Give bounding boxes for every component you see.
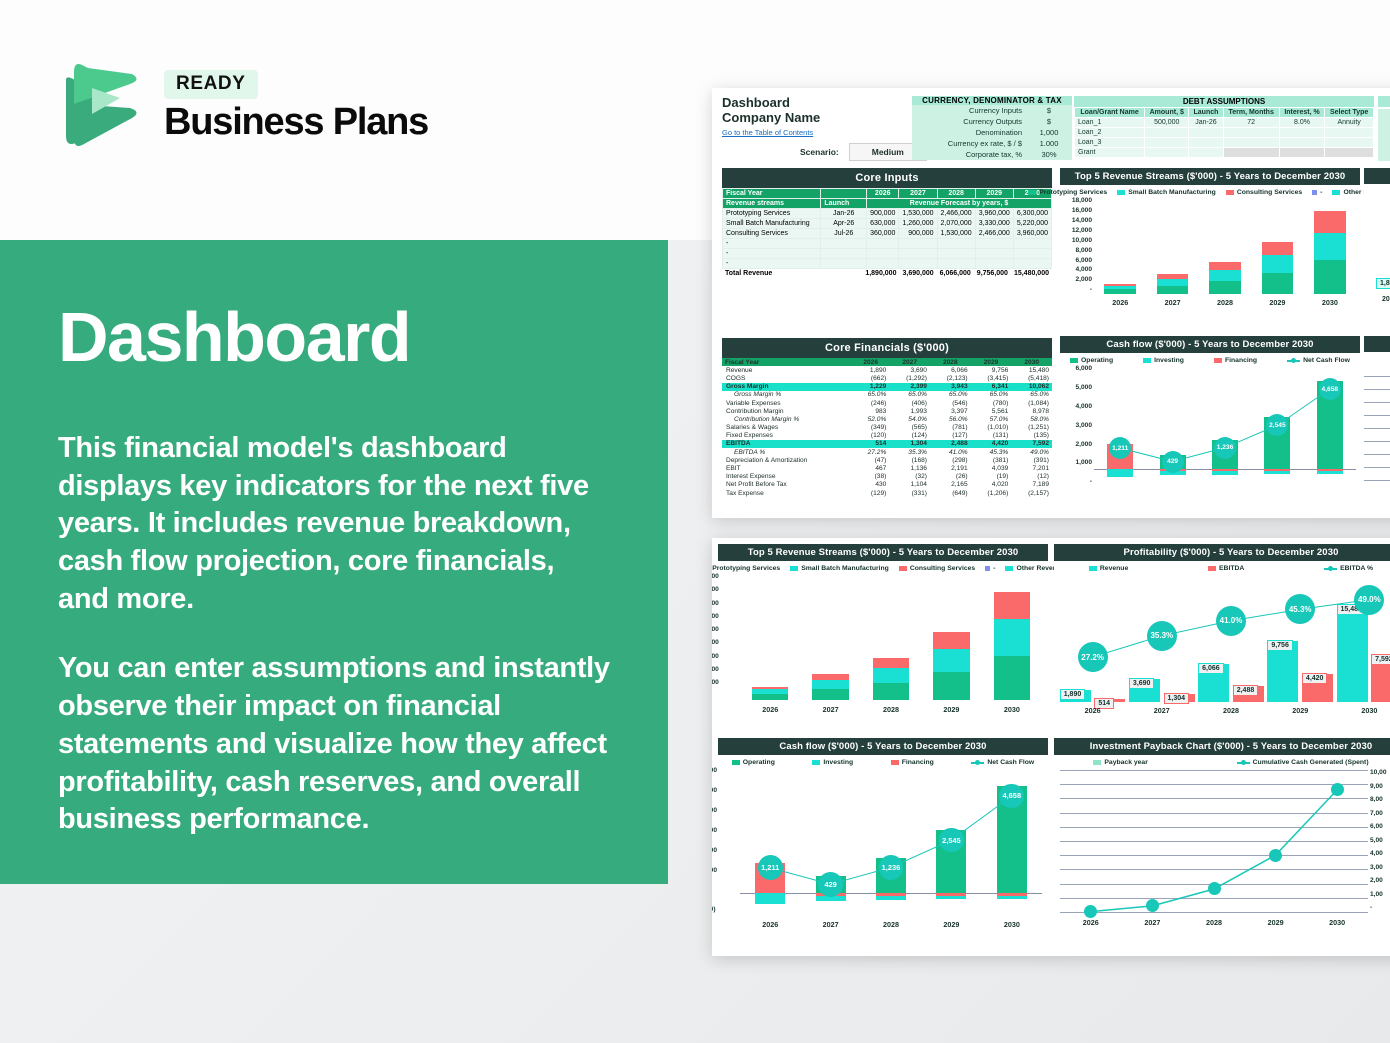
stream-value[interactable]: 900,000 xyxy=(867,209,899,219)
bar-segment xyxy=(1262,273,1293,294)
fiscal-year-label: Fiscal Year xyxy=(723,189,821,199)
cf-cell: 35.3% xyxy=(889,448,930,456)
cf-row-label: Contribution Margin xyxy=(722,407,852,415)
chart-title: Cash flow ($'000) - 5 Years to December … xyxy=(718,738,1048,755)
legend-swatch xyxy=(985,566,990,571)
total-revenue-row: Total Revenue1,890,0003,690,0006,066,000… xyxy=(722,269,1052,278)
y-tick: ,000 xyxy=(712,654,736,661)
x-axis-ticks: 20262027202820292030 xyxy=(1094,298,1356,307)
x-tick: 2027 xyxy=(1146,298,1198,307)
debt-row[interactable]: Loan_3 xyxy=(1075,138,1374,148)
legend-swatch xyxy=(1089,566,1097,571)
cf-row-label: Net Profit Before Tax xyxy=(722,481,852,489)
chart-cut-right-bottom[interactable]: Inve xyxy=(1364,336,1390,511)
legend-label: Small Batch Manufacturing xyxy=(801,565,889,572)
legend-swatch xyxy=(1332,190,1340,195)
y-tick: - xyxy=(712,693,736,700)
stream-value[interactable]: 900,000 xyxy=(899,229,937,239)
cf-cell: 49.0% xyxy=(1011,448,1052,456)
bar-group xyxy=(740,574,800,700)
cf-cell: 514 xyxy=(852,440,889,448)
debt-cell[interactable] xyxy=(1279,138,1325,148)
core-inputs-table[interactable]: Fiscal Year20262027202820292030Revenue s… xyxy=(722,188,1052,269)
bars: 1,2114291,2362,5454,658 xyxy=(1094,366,1356,486)
core-inputs-row[interactable]: Consulting ServicesJul-26360,000900,0001… xyxy=(723,229,1052,239)
cf-cell: 7,201 xyxy=(1011,464,1052,472)
total-revenue-value: 6,066,000 xyxy=(937,269,974,278)
currency-value[interactable]: $ xyxy=(1026,116,1072,127)
currency-row: Currency Outputs$ xyxy=(912,116,1072,127)
debt-cell[interactable]: Jan-26 xyxy=(1189,118,1223,128)
debt-cell[interactable]: Loan_2 xyxy=(1075,128,1145,138)
stream-value[interactable]: 2,466,000 xyxy=(975,229,1013,239)
legend-swatch xyxy=(1214,358,1222,363)
stream-launch[interactable] xyxy=(821,239,867,249)
cf-cell: (1,206) xyxy=(971,489,1012,497)
cf-row: Net Profit Before Tax4301,1042,1654,0207… xyxy=(722,481,1052,489)
brand-name: Business Plans xyxy=(164,103,428,143)
ready-badge: READY xyxy=(164,70,258,99)
stream-value[interactable]: 2,466,000 xyxy=(937,209,975,219)
cf-row-label: Salaries & Wages xyxy=(722,424,852,432)
cf-cell: 7,189 xyxy=(1011,481,1052,489)
x-tick: 2028 xyxy=(861,920,921,929)
bar-segment xyxy=(1104,289,1135,294)
dashboard-sheet-bottom[interactable]: Top 5 Revenue Streams ($'000) - 5 Years … xyxy=(712,538,1390,956)
ebitda-pct-bubble: 27.2% xyxy=(1078,642,1108,672)
legend-label: Net Cash Flow xyxy=(1303,357,1350,364)
chart-revenue-streams-bottom[interactable]: Top 5 Revenue Streams ($'000) - 5 Years … xyxy=(718,544,1048,734)
stream-value[interactable] xyxy=(867,259,899,269)
stacked-bar xyxy=(1157,274,1188,294)
bar-segment xyxy=(1314,260,1345,294)
debt-cell[interactable] xyxy=(1279,128,1325,138)
chart-title: Investment Payback Chart ($'000) - 5 Yea… xyxy=(1054,738,1390,755)
plot-area xyxy=(740,574,1042,700)
bars: 1,2114291,2362,5454,658 xyxy=(740,768,1042,914)
debt-cell[interactable]: Loan_1 xyxy=(1075,118,1145,128)
stream-value[interactable]: 3,960,000 xyxy=(975,209,1013,219)
debt-col-header: Term, Months xyxy=(1223,108,1279,118)
launch-label: Launch xyxy=(821,199,867,209)
debt-block: DEBT ASSUMPTIONS Loan/Grant NameAmount, … xyxy=(1074,96,1374,158)
cf-cell: 10,062 xyxy=(1011,383,1052,391)
chart-profitability[interactable]: Profitability ($'000) - 5 Years to Decem… xyxy=(1054,544,1390,734)
y-tick: - xyxy=(1060,287,1092,294)
stream-value[interactable] xyxy=(899,259,937,269)
stream-value[interactable] xyxy=(937,249,975,259)
y-axis-ticks: ,000,000,000,000,000,000,000,000,000- xyxy=(712,574,736,700)
y-tick: 5,00 xyxy=(1370,838,1390,845)
cf-row: Contribution Margin9831,9933,3975,5618,9… xyxy=(722,407,1052,415)
stream-value[interactable] xyxy=(937,259,975,269)
debt-cell[interactable] xyxy=(1145,148,1189,158)
legend-label: Consulting Services xyxy=(910,565,975,572)
legend-swatch xyxy=(1028,190,1036,195)
debt-cell[interactable]: Grant xyxy=(1075,148,1145,158)
sheet-title-line1: Dashboard xyxy=(722,95,790,110)
cf-year-row: Fiscal Year20262027202820292030 xyxy=(722,358,1052,366)
page-title: Dashboard xyxy=(58,302,610,372)
x-tick: 2028 xyxy=(1199,298,1251,307)
bar-group xyxy=(1146,198,1198,294)
cf-row: Gross Margin1,2292,3993,9436,34110,062 xyxy=(722,383,1052,391)
stream-value[interactable]: 3,330,000 xyxy=(975,219,1013,229)
legend-swatch xyxy=(891,760,899,765)
cf-row-label: COGS xyxy=(722,374,852,382)
stacked-bar xyxy=(812,674,848,700)
cf-row-label: Variable Expenses xyxy=(722,399,852,407)
hero-panel: Dashboard This financial model's dashboa… xyxy=(0,240,668,884)
gridline xyxy=(1364,454,1390,455)
y-tick: - xyxy=(712,887,736,894)
cf-row: Tax Expense(129)(331)(649)(1,206)(2,157) xyxy=(722,489,1052,497)
cf-cell: (2,123) xyxy=(930,374,971,382)
debt-row[interactable]: Loan_1500,000Jan-26728.0%Annuity xyxy=(1075,118,1374,128)
stream-name[interactable]: Consulting Services xyxy=(723,229,821,239)
legend-swatch xyxy=(732,760,740,765)
cf-cell: 1,993 xyxy=(889,407,930,415)
x-tick: 2030 xyxy=(1335,706,1390,715)
x-tick: 2027 xyxy=(1122,918,1184,927)
cf-row-label: Revenue xyxy=(722,366,852,374)
stream-launch[interactable] xyxy=(821,249,867,259)
stacked-bar xyxy=(1314,211,1345,294)
debt-cell[interactable] xyxy=(1145,128,1189,138)
debt-row[interactable]: Loan_2 xyxy=(1075,128,1374,138)
y-tick: 8,000 xyxy=(1060,248,1092,255)
stacked-bar xyxy=(1209,262,1240,294)
stream-value[interactable] xyxy=(975,249,1013,259)
stream-value[interactable]: 1,260,000 xyxy=(899,219,937,229)
core-financials-table[interactable]: Fiscal Year20262027202820292030Revenue1,… xyxy=(722,358,1052,497)
x-tick: 2026 xyxy=(1094,298,1146,307)
legend-label: Revenue xyxy=(1100,565,1128,572)
cf-cell: 8,978 xyxy=(1011,407,1052,415)
legend-swatch xyxy=(1070,358,1078,363)
bar-segment xyxy=(1209,270,1240,281)
cf-cell: 54.0% xyxy=(889,415,930,423)
legend-label: Investing xyxy=(823,759,853,766)
y-tick: ,000 xyxy=(712,614,736,621)
stream-value[interactable]: 3,960,000 xyxy=(1013,229,1051,239)
cf-cell: (129) xyxy=(852,489,889,497)
core-inputs-row[interactable]: Prototyping ServicesJan-26900,0001,530,0… xyxy=(723,209,1052,219)
cf-cell: (349) xyxy=(852,424,889,432)
stream-launch[interactable] xyxy=(821,259,867,269)
legend-label: Prototyping Services xyxy=(712,565,780,572)
chart-cut-right-top[interactable]: 27.2% 1,890 2026 xyxy=(1364,168,1390,328)
cf-cell: 2,488 xyxy=(930,440,971,448)
debt-cell[interactable] xyxy=(1223,148,1279,158)
chart-title: Profitability ($'000) - 5 Years to Decem… xyxy=(1054,544,1390,561)
stream-name[interactable]: Prototyping Services xyxy=(723,209,821,219)
currency-label: Currency Inputs xyxy=(912,105,1026,116)
debt-cell[interactable]: 72 xyxy=(1223,118,1279,128)
bar-segment xyxy=(873,658,909,669)
cf-cell: 1,104 xyxy=(889,481,930,489)
stream-name[interactable]: - xyxy=(723,259,821,269)
x-tick: 2026 xyxy=(1382,296,1390,303)
debt-cell[interactable] xyxy=(1189,138,1223,148)
legend-label: Prototyping Services xyxy=(1039,189,1107,196)
gridline xyxy=(1364,389,1390,390)
core-inputs-row[interactable]: - xyxy=(723,259,1052,269)
y-tick: 8,00 xyxy=(1370,797,1390,804)
legend-item: Investing xyxy=(812,759,853,766)
debt-col-header: Loan/Grant Name xyxy=(1075,108,1145,118)
cf-row: Salaries & Wages(349)(565)(781)(1,010)(1… xyxy=(722,424,1052,432)
net-cash-flow-bubble: 1,236 xyxy=(1214,437,1236,459)
y-tick: - xyxy=(1060,479,1092,486)
stream-value[interactable] xyxy=(899,249,937,259)
stream-value[interactable] xyxy=(975,259,1013,269)
legend-label: - xyxy=(1320,189,1322,196)
stream-value[interactable]: 6,300,000 xyxy=(1013,209,1051,219)
stream-value[interactable] xyxy=(867,249,899,259)
x-tick: 2026 xyxy=(1060,918,1122,927)
debt-cell[interactable] xyxy=(1189,128,1223,138)
debt-row[interactable]: Grant xyxy=(1075,148,1374,158)
cf-cell: (19) xyxy=(971,473,1012,481)
y-tick: 2,000 xyxy=(1060,442,1092,449)
gridline xyxy=(1364,376,1390,377)
scenario-label: Scenario: xyxy=(800,147,839,157)
debt-cell[interactable] xyxy=(1325,148,1374,158)
stream-value[interactable]: 2,070,000 xyxy=(937,219,975,229)
cf-cell: (26) xyxy=(930,473,971,481)
currency-value[interactable]: 1,000 xyxy=(1026,127,1072,138)
y-tick: 6,00 xyxy=(1370,824,1390,831)
currency-value[interactable]: $ xyxy=(1026,105,1072,116)
y-tick: 7,00 xyxy=(1370,811,1390,818)
cf-cell: 65.0% xyxy=(852,391,889,399)
currency-value[interactable]: 1.000 xyxy=(1026,138,1072,149)
bar-segment xyxy=(1262,242,1293,255)
chart-revenue-streams-top[interactable]: Top 5 Revenue Streams ($'000) - 5 Years … xyxy=(1060,168,1360,328)
legend-item: Consulting Services xyxy=(1226,189,1302,196)
cf-cell: 1,229 xyxy=(852,383,889,391)
cf-row: Fixed Expenses(120)(124)(127)(131)(135) xyxy=(722,432,1052,440)
debt-col-header: Launch xyxy=(1189,108,1223,118)
legend-item: Prototyping Services xyxy=(712,565,780,572)
currency-label: Currency ex rate, $ / $ xyxy=(912,138,1026,149)
cf-cell: 2,165 xyxy=(930,481,971,489)
net-cash-flow-bubble: 2,545 xyxy=(939,828,964,853)
cf-cell: (135) xyxy=(1011,432,1052,440)
stream-value[interactable]: 5,220,000 xyxy=(1013,219,1051,229)
y-tick: 000 xyxy=(712,828,736,835)
x-tick: 2029 xyxy=(1266,706,1335,715)
bar-segment xyxy=(752,694,788,700)
core-inputs-row[interactable]: - xyxy=(723,239,1052,249)
stream-name[interactable]: - xyxy=(723,239,821,249)
bar-group xyxy=(921,574,981,700)
stream-value[interactable]: 1,530,000 xyxy=(899,209,937,219)
y-axis-ticks: 6,0005,0004,0003,0002,0001,000- xyxy=(1060,366,1092,486)
core-inputs-row[interactable]: Small Batch ManufacturingApr-26630,0001,… xyxy=(723,219,1052,229)
bar-segment xyxy=(994,656,1030,700)
y-tick: 4,000 xyxy=(1060,267,1092,274)
cf-cell: (168) xyxy=(889,456,930,464)
stream-value[interactable]: 360,000 xyxy=(867,229,899,239)
stream-value[interactable] xyxy=(867,239,899,249)
cf-cell: 3,690 xyxy=(889,366,930,374)
legend-label: Small Batch Manufacturing xyxy=(1128,189,1216,196)
chart-title: Top 5 Revenue Streams ($'000) - 5 Years … xyxy=(718,544,1048,561)
debt-cell[interactable]: 8.0% xyxy=(1279,118,1325,128)
chart-cash-flow-top[interactable]: Cash flow ($'000) - 5 Years to December … xyxy=(1060,336,1360,511)
cf-cell: 1,136 xyxy=(889,464,930,472)
core-inputs-row[interactable]: - xyxy=(723,249,1052,259)
debt-cell[interactable] xyxy=(1325,128,1374,138)
legend-item: Financing xyxy=(891,759,934,766)
bar-segment xyxy=(933,632,969,649)
currency-block: CURRENCY, DENOMINATOR & TAX Currency Inp… xyxy=(912,96,1072,160)
debt-table[interactable]: Loan/Grant NameAmount, $LaunchTerm, Mont… xyxy=(1074,107,1374,158)
legend-swatch xyxy=(1117,190,1125,195)
sheet-title-line2: Company Name xyxy=(722,110,820,125)
chart-investment-payback[interactable]: Investment Payback Chart ($'000) - 5 Yea… xyxy=(1054,738,1390,950)
cf-cell: (1,084) xyxy=(1011,399,1052,407)
cf-cell: 65.0% xyxy=(971,391,1012,399)
legend-label: Operating xyxy=(743,759,775,766)
debt-cell[interactable]: Loan_3 xyxy=(1075,138,1145,148)
hero-paragraph-2: You can enter assumptions and instantly … xyxy=(58,650,610,838)
bar-segment xyxy=(1262,255,1293,273)
stream-value[interactable] xyxy=(1013,259,1051,269)
legend-item: Prototyping Services xyxy=(1028,189,1107,196)
y-tick: ,000 xyxy=(712,680,736,687)
legend-label: Payback year xyxy=(1104,759,1147,766)
cf-cell: (120) xyxy=(852,432,889,440)
y-tick: 1,00 xyxy=(1370,892,1390,899)
legend-item: - xyxy=(985,565,995,572)
chart-legend: OperatingInvestingFinancingNet Cash Flow xyxy=(1060,353,1360,366)
core-inputs-sub-header: Revenue streamsLaunchRevenue Forecast by… xyxy=(723,199,1052,209)
bar-segment xyxy=(873,668,909,682)
year-header: 2026 xyxy=(867,189,899,199)
cf-row-label: Gross Margin xyxy=(722,383,852,391)
cf-cell: (662) xyxy=(852,374,889,382)
total-revenue-value: 3,690,000 xyxy=(899,269,936,278)
cf-cell: 65.0% xyxy=(889,391,930,399)
legend-label: - xyxy=(993,565,995,572)
stream-name[interactable]: Small Batch Manufacturing xyxy=(723,219,821,229)
legend-swatch xyxy=(790,566,798,571)
stream-value[interactable] xyxy=(975,239,1013,249)
stream-value[interactable] xyxy=(899,239,937,249)
stacked-bar xyxy=(1262,242,1293,294)
legend-label: EBITDA xyxy=(1219,565,1244,572)
legend-swatch xyxy=(1312,190,1317,195)
cf-cell: (298) xyxy=(930,456,971,464)
y-tick: ,000 xyxy=(712,587,736,594)
bar-segment xyxy=(1157,279,1188,286)
stream-value[interactable] xyxy=(1013,249,1051,259)
cf-cell: 2,191 xyxy=(930,464,971,472)
stacked-bar xyxy=(994,592,1030,700)
debt-cell[interactable] xyxy=(1189,148,1223,158)
bar-segment xyxy=(933,672,969,700)
cf-cell: (331) xyxy=(889,489,930,497)
cf-row-label: Fixed Expenses xyxy=(722,432,852,440)
debt-cell[interactable]: 500,000 xyxy=(1145,118,1189,128)
stream-value[interactable]: 630,000 xyxy=(867,219,899,229)
chart-cash-flow-bottom[interactable]: Cash flow ($'000) - 5 Years to December … xyxy=(718,738,1048,950)
cf-cell: 1,890 xyxy=(852,366,889,374)
x-tick: 2030 xyxy=(982,705,1042,714)
y-tick: ,000 xyxy=(712,640,736,647)
hero-paragraph-1: This financial model's dashboard display… xyxy=(58,430,610,618)
y-tick: - xyxy=(1370,905,1390,912)
bar-segment xyxy=(1314,233,1345,261)
debt-cell[interactable] xyxy=(1325,138,1374,148)
cf-cell: (38) xyxy=(852,473,889,481)
stream-value[interactable] xyxy=(937,239,975,249)
debt-col-header: Amount, $ xyxy=(1145,108,1189,118)
x-tick: 2027 xyxy=(1127,706,1196,715)
legend-swatch xyxy=(1324,568,1337,570)
x-tick: 2028 xyxy=(1196,706,1265,715)
debt-cell[interactable] xyxy=(1223,138,1279,148)
legend-swatch xyxy=(1143,358,1151,363)
stream-launch[interactable]: Jan-26 xyxy=(821,209,867,219)
cf-cell: (2,157) xyxy=(1011,489,1052,497)
debt-cell[interactable] xyxy=(1279,148,1325,158)
legend-swatch xyxy=(899,566,907,571)
y-tick: 000 xyxy=(712,848,736,855)
year-header: 2029 xyxy=(975,189,1013,199)
currency-value[interactable]: 30% xyxy=(1026,149,1072,160)
ebitda-pct-bubble: 49.0% xyxy=(1354,585,1384,615)
legend-swatch xyxy=(1287,360,1300,362)
legend-item: Net Cash Flow xyxy=(1287,357,1350,364)
debt-cell[interactable] xyxy=(1145,138,1189,148)
ebitda-pct-bubble: 35.3% xyxy=(1147,621,1177,651)
currency-table: Currency Inputs$Currency Outputs$Denomin… xyxy=(912,105,1072,160)
stream-name[interactable]: - xyxy=(723,249,821,259)
cf-cell: 52.0% xyxy=(852,415,889,423)
x-tick: 2029 xyxy=(921,705,981,714)
core-inputs-total-row: Total Revenue1,890,0003,690,0006,066,000… xyxy=(722,269,1052,278)
x-tick: 2028 xyxy=(1183,918,1245,927)
y-tick: 10,000 xyxy=(1060,238,1092,245)
stream-launch[interactable]: Jul-26 xyxy=(821,229,867,239)
legend-swatch xyxy=(1208,566,1216,571)
bar-segment xyxy=(994,592,1030,620)
dashboard-sheet-top[interactable]: Dashboard Company Name Go to the Table o… xyxy=(712,88,1390,518)
cf-cell: 9,756 xyxy=(971,366,1012,374)
cf-cell: 7,592 xyxy=(1011,440,1052,448)
debt-cell[interactable]: Annuity xyxy=(1325,118,1374,128)
play-triangle-logo-icon xyxy=(58,58,146,150)
stream-value[interactable]: 1,530,000 xyxy=(937,229,975,239)
y-tick: 18,000 xyxy=(1060,198,1092,205)
currency-label: Denomination xyxy=(912,127,1026,138)
y-axis-ticks: 18,00016,00014,00012,00010,0008,0006,000… xyxy=(1060,198,1092,294)
legend-label: Financing xyxy=(1225,357,1257,364)
bar-segment xyxy=(812,689,848,700)
bar-group xyxy=(1199,198,1251,294)
debt-cell[interactable] xyxy=(1223,128,1279,138)
revenue-streams-label: Revenue streams xyxy=(723,199,821,209)
stream-value[interactable] xyxy=(1013,239,1051,249)
cf-cell: 4,039 xyxy=(971,464,1012,472)
cf-row: Gross Margin %65.0%65.0%65.0%65.0%65.0% xyxy=(722,391,1052,399)
legend-item: Consulting Services xyxy=(899,565,975,572)
stream-launch[interactable]: Apr-26 xyxy=(821,219,867,229)
